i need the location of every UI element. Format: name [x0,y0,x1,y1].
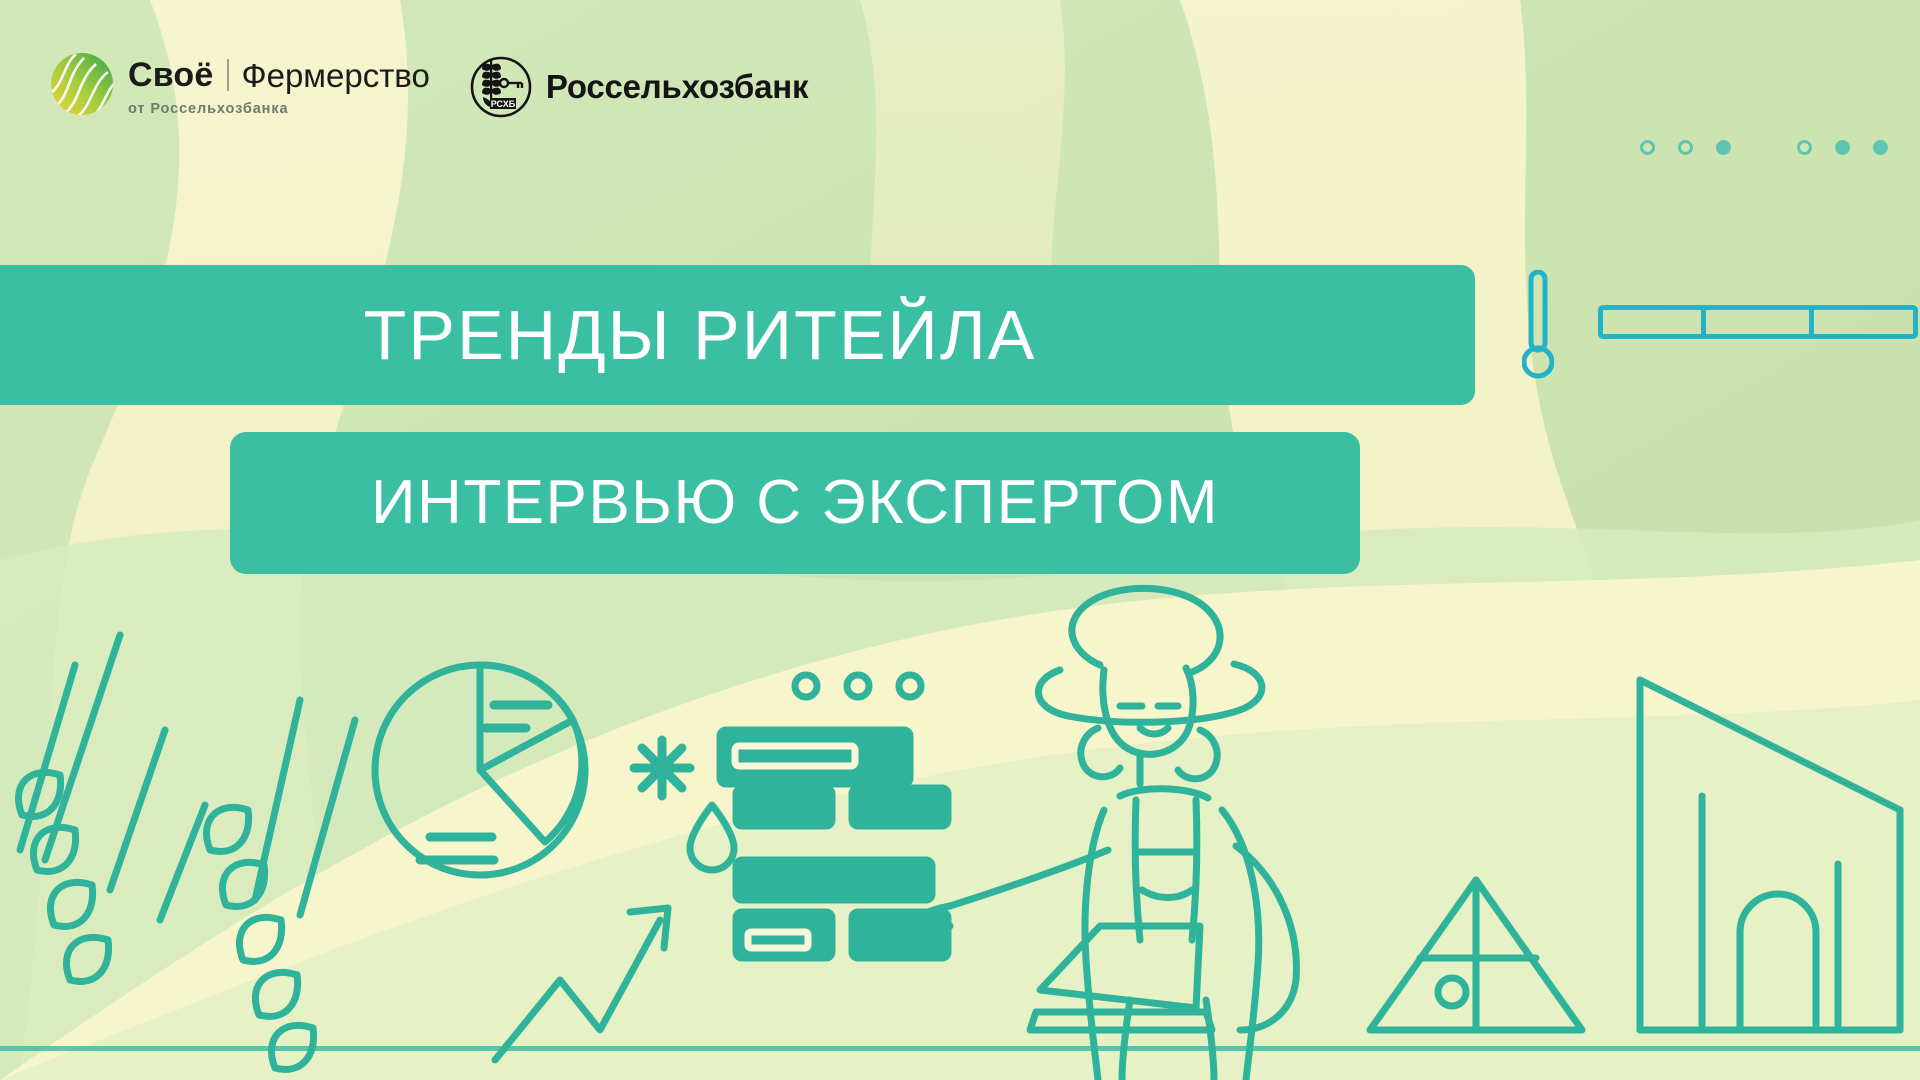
dot-4 [1797,140,1812,155]
rosselkhozbank-logo[interactable]: РСХБ Россельхозбанк [470,56,808,118]
svg-text:РСХБ: РСХБ [491,99,516,109]
slider-bar-icon [1598,305,1918,339]
decorative-dots [1640,140,1888,155]
svoe-fermerstvo-logo[interactable]: Своё Фермерство от Россельхозбанка [50,52,430,117]
wheat-key-emblem-icon: РСХБ [470,56,532,118]
page-title: ТРЕНДЫ РИТЕЙЛА [364,296,1037,374]
dot-6 [1873,140,1888,155]
dot-3 [1716,140,1731,155]
pie-legend-bars [420,705,548,860]
logo-divider [227,59,229,91]
fermerstvo-wordmark: Фермерство [242,59,430,92]
laptop-icon [1030,926,1212,1030]
svoe-tagline: от Россельхозбанка [128,101,430,117]
leaf-circle-gradient-icon [50,52,114,116]
barn-house-icon [1640,680,1900,1030]
dot-1 [1640,140,1655,155]
water-droplet-icon [690,805,734,870]
title-banner: ТРЕНДЫ РИТЕЙЛА [0,265,1475,405]
slider-tick-1 [1701,305,1706,339]
farmer-woman-icon [894,588,1296,1080]
subtitle-banner: ИНТЕРВЬЮ С ЭКСПЕРТОМ [230,432,1360,574]
logo-row: Своё Фермерство от Россельхозбанка [50,52,808,118]
growth-arrow-icon [495,908,668,1060]
pie-chart-icon [375,665,585,875]
bank-wordmark: Россельхозбанк [546,68,808,106]
slider-tick-2 [1809,305,1814,339]
thermometer-icon [1522,270,1554,380]
wheat-stalks-icon [18,635,355,1069]
dot-2 [1678,140,1693,155]
banner-stage: Своё Фермерство от Россельхозбанка [0,0,1920,1080]
greenhouse-icon [1370,880,1582,1030]
page-subtitle: ИНТЕРВЬЮ С ЭКСПЕРТОМ [371,468,1219,537]
dot-5 [1835,140,1850,155]
svoe-wordmark: Своё [128,58,214,92]
three-dots-icon [795,675,921,697]
farm-illustration [0,560,1920,1080]
asterisk-icon [634,740,690,796]
